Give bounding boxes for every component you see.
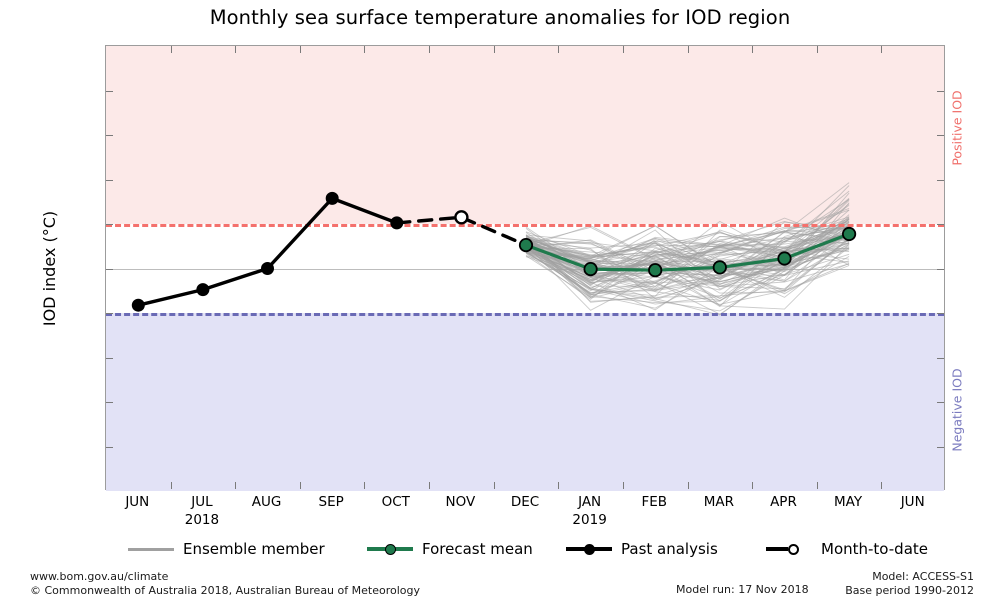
x-tick-label: JUN	[901, 494, 925, 510]
legend-swatch	[367, 540, 413, 558]
x-tick	[558, 482, 559, 489]
negative-iod-label: Negative IOD	[950, 368, 965, 451]
series-line-past-analysis	[138, 198, 397, 305]
legend-marker	[385, 544, 396, 555]
x-tick	[688, 46, 689, 53]
x-tick-label: DEC	[511, 494, 539, 510]
x-tick	[558, 46, 559, 53]
legend-item-month-to-date: Month-to-date	[766, 535, 928, 563]
x-tick	[688, 482, 689, 489]
legend-line	[766, 547, 788, 551]
data-point	[262, 263, 274, 275]
x-tick	[494, 482, 495, 489]
data-point	[714, 261, 726, 273]
footer-right: Model: ACCESS-S1 Base period 1990-2012	[845, 570, 974, 597]
data-point	[455, 211, 467, 223]
x-tick	[171, 482, 172, 489]
x-year-label: 2019	[572, 512, 606, 528]
y-tick	[106, 402, 113, 403]
data-series-plot	[106, 46, 946, 491]
legend-swatch	[128, 540, 174, 558]
footer-website: www.bom.gov.au/climate	[30, 570, 420, 584]
legend-label: Forecast mean	[422, 540, 533, 558]
x-tick	[623, 46, 624, 53]
legend-item-forecast-mean: Forecast mean	[367, 535, 533, 563]
x-tick	[752, 46, 753, 53]
x-tick-label: MAR	[704, 494, 734, 510]
x-tick-label: FEB	[641, 494, 667, 510]
x-tick	[300, 482, 301, 489]
y-tick	[106, 269, 113, 270]
x-tick-label: NOV	[446, 494, 476, 510]
x-tick	[817, 482, 818, 489]
data-point	[843, 228, 855, 240]
y-tick	[106, 135, 113, 136]
x-year-label: 2018	[185, 512, 219, 528]
legend-marker	[788, 544, 799, 555]
x-tick	[881, 482, 882, 489]
x-tick-label: AUG	[252, 494, 282, 510]
legend-marker	[584, 544, 595, 555]
y-tick	[937, 180, 944, 181]
data-point	[520, 239, 532, 251]
y-tick	[106, 358, 113, 359]
y-tick	[937, 269, 944, 270]
x-tick	[494, 46, 495, 53]
footer-model: Model: ACCESS-S1	[845, 570, 974, 584]
legend-swatch	[766, 540, 812, 558]
footer-model-run: Model run: 17 Nov 2018	[676, 583, 809, 597]
x-tick	[752, 482, 753, 489]
x-tick	[171, 46, 172, 53]
series-line-forecast-mean	[526, 234, 849, 270]
x-tick-label: MAY	[834, 494, 862, 510]
data-point	[778, 252, 790, 264]
x-tick	[817, 46, 818, 53]
y-tick	[937, 313, 944, 314]
y-tick	[937, 135, 944, 136]
data-point	[649, 264, 661, 276]
positive-iod-label: Positive IOD	[950, 91, 965, 166]
x-tick	[235, 46, 236, 53]
y-tick	[106, 91, 113, 92]
x-tick-label: OCT	[382, 494, 410, 510]
legend-label: Past analysis	[621, 540, 718, 558]
y-tick	[937, 224, 944, 225]
x-tick	[429, 46, 430, 53]
y-tick	[937, 402, 944, 403]
x-tick	[364, 482, 365, 489]
x-tick	[881, 46, 882, 53]
y-tick	[106, 313, 113, 314]
legend-item-past-analysis: Past analysis	[566, 535, 718, 563]
x-tick-label: JUL	[191, 494, 212, 510]
y-tick	[106, 180, 113, 181]
y-tick	[937, 447, 944, 448]
legend-label: Ensemble member	[183, 540, 325, 558]
y-tick	[937, 91, 944, 92]
page-title: Monthly sea surface temperature anomalie…	[0, 6, 1000, 29]
plot-area: IOD index (°C)	[105, 45, 945, 490]
y-tick	[937, 358, 944, 359]
legend-item-ensemble-member: Ensemble member	[128, 535, 325, 563]
data-point	[391, 217, 403, 229]
data-point	[132, 299, 144, 311]
y-axis-title: IOD index (°C)	[40, 46, 62, 491]
data-point	[197, 284, 209, 296]
footer-left: www.bom.gov.au/climate © Commonwealth of…	[30, 570, 420, 597]
x-tick	[623, 482, 624, 489]
chart-figure: Monthly sea surface temperature anomalie…	[0, 0, 1000, 600]
x-tick	[235, 482, 236, 489]
x-tick-label: JAN	[578, 494, 601, 510]
footer-base-period: Base period 1990-2012	[845, 584, 974, 598]
x-tick	[429, 482, 430, 489]
data-point	[584, 263, 596, 275]
x-tick-label: SEP	[319, 494, 344, 510]
x-tick-label: JUN	[125, 494, 149, 510]
y-tick	[106, 447, 113, 448]
chart-legend: Ensemble memberForecast meanPast analysi…	[0, 535, 1000, 563]
footer-copyright: © Commonwealth of Australia 2018, Austra…	[30, 584, 420, 598]
x-tick	[300, 46, 301, 53]
legend-line	[128, 548, 174, 551]
x-tick-label: APR	[770, 494, 797, 510]
footer-copyright-text: Commonwealth of Australia 2018, Australi…	[45, 584, 420, 597]
legend-label: Month-to-date	[821, 540, 928, 558]
data-point	[326, 192, 338, 204]
y-tick	[106, 224, 113, 225]
x-tick	[364, 46, 365, 53]
legend-swatch	[566, 540, 612, 558]
